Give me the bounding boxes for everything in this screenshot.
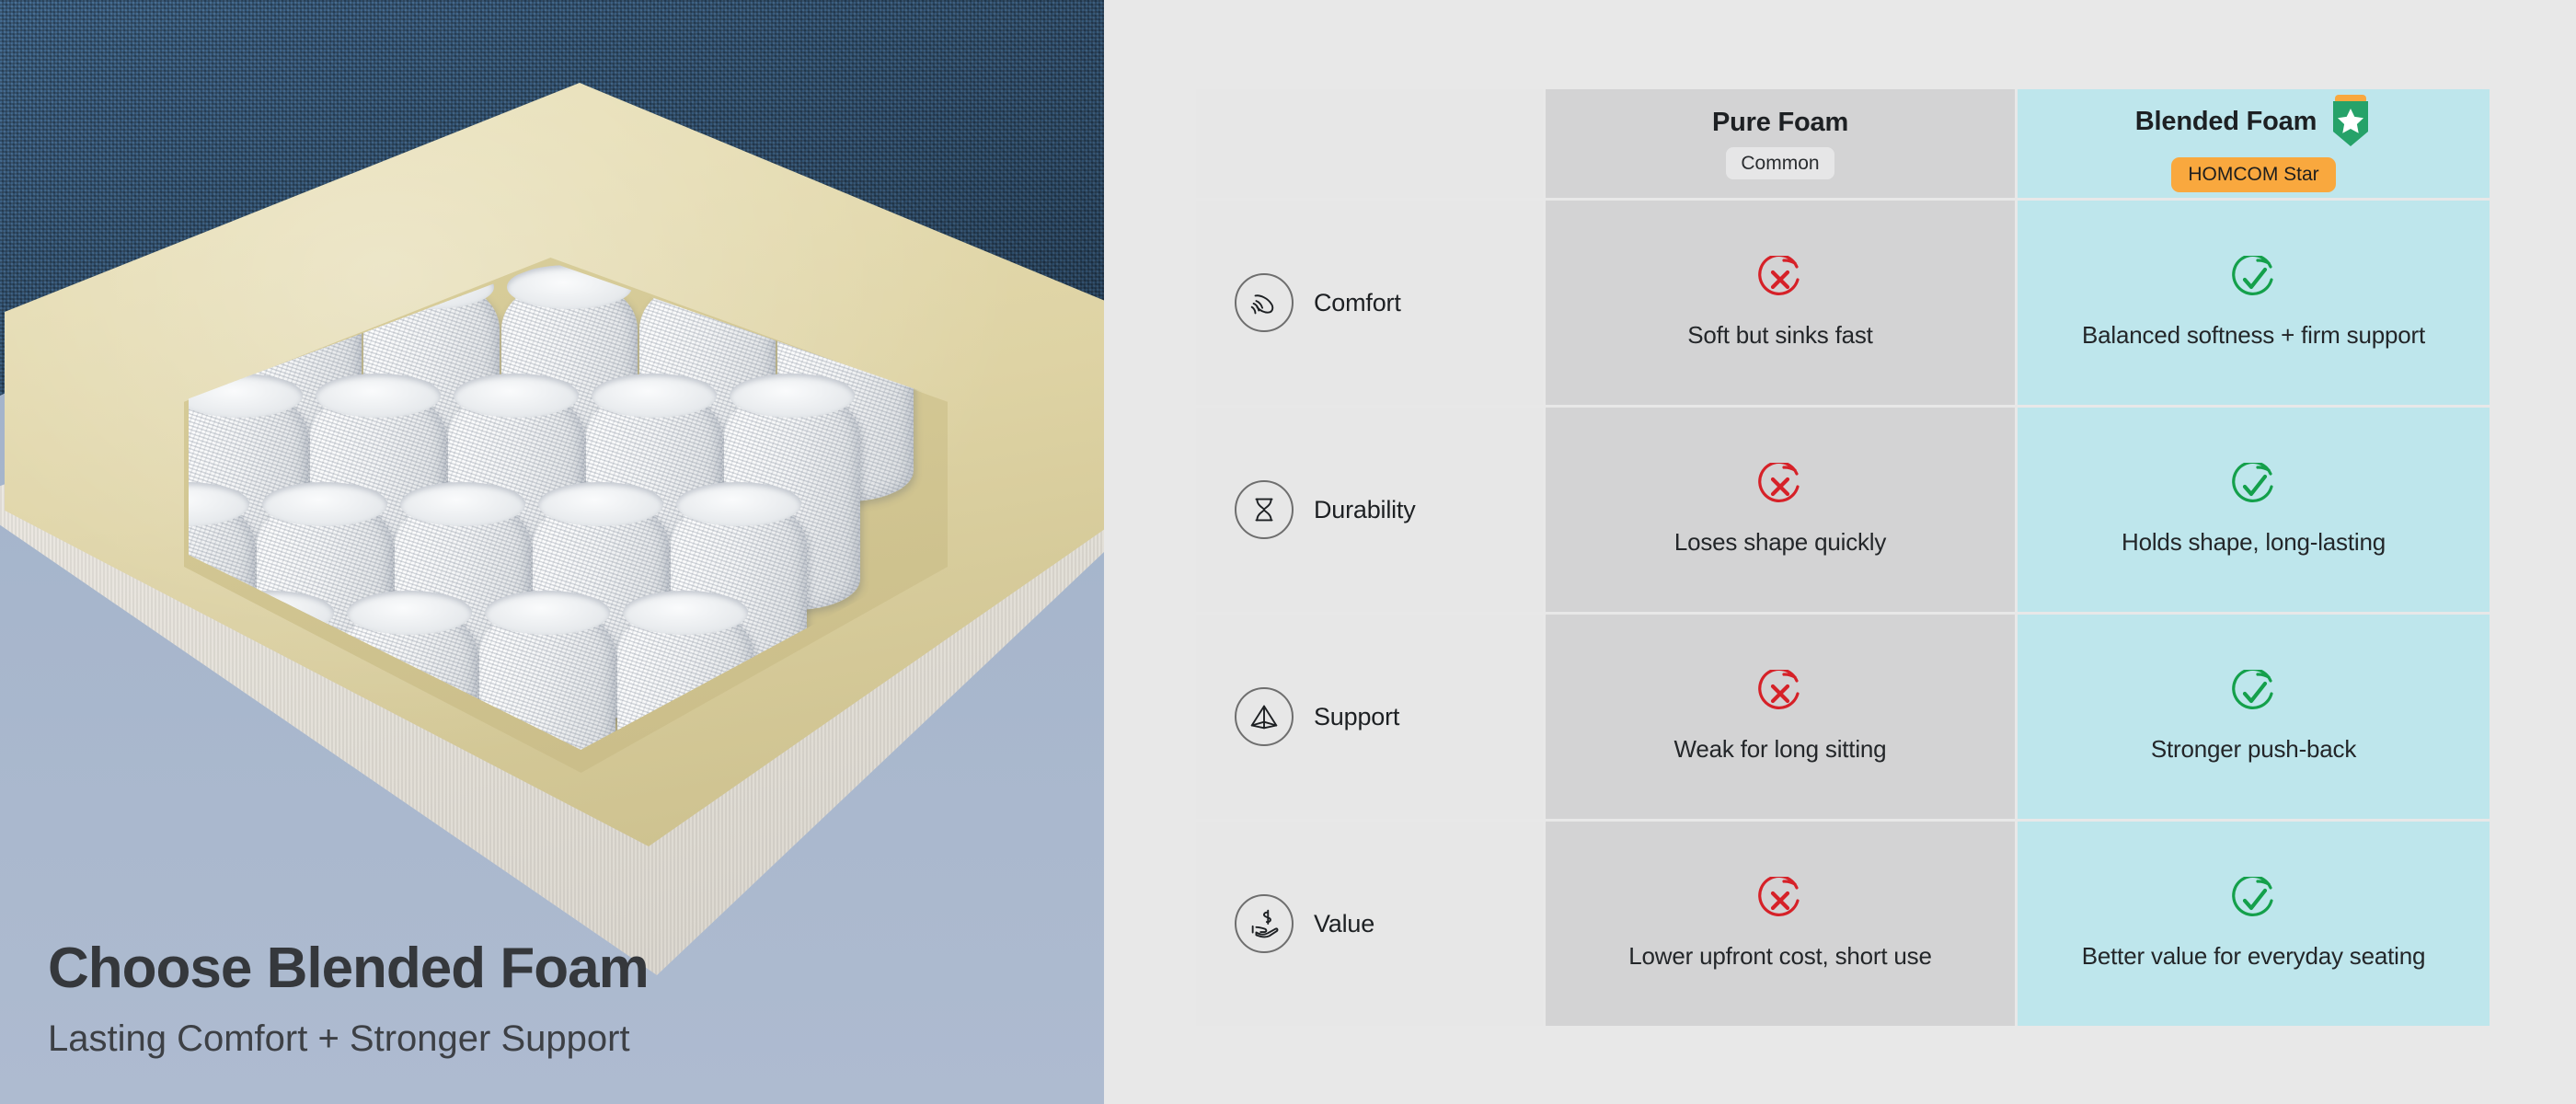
cell-text: Soft but sinks fast <box>1687 320 1872 351</box>
cross-icon <box>1756 463 1804 511</box>
row-label-comfort: Comfort <box>1196 201 1543 405</box>
page-title: Choose Blended Foam <box>48 938 649 998</box>
row-label-text: Durability <box>1314 496 1416 524</box>
cross-icon <box>1756 256 1804 304</box>
blended-foam-title: Blended Foam <box>2135 107 2317 137</box>
row-label-text: Support <box>1314 703 1399 731</box>
cell-pure-comfort: Soft but sinks fast <box>1546 201 2015 405</box>
comparison-panel: Pure Foam Common Blended Foam HOMCOM Sta… <box>1104 0 2576 1104</box>
cell-text: Better value for everyday seating <box>2082 941 2426 972</box>
cross-icon <box>1756 670 1804 718</box>
homcom-star-badge: HOMCOM Star <box>2171 157 2335 191</box>
row-label-durability: Durability <box>1196 408 1543 612</box>
pure-foam-title: Pure Foam <box>1712 108 1848 138</box>
cell-blended-support: Stronger push-back <box>2018 615 2490 819</box>
row-label-value: Value <box>1196 822 1543 1026</box>
star-shield-icon <box>2329 95 2372 148</box>
blended-foam-title-row: Blended Foam <box>2135 95 2372 148</box>
column-header-pure-foam: Pure Foam Common <box>1546 89 2015 198</box>
cell-text: Holds shape, long-lasting <box>2122 527 2386 558</box>
check-icon <box>2230 463 2278 511</box>
cell-text: Balanced softness + firm support <box>2082 320 2425 351</box>
cell-text: Lower upfront cost, short use <box>1628 941 1931 972</box>
check-icon <box>2230 670 2278 718</box>
hand-dollar-icon <box>1235 894 1294 953</box>
hand-softness-icon <box>1235 273 1294 332</box>
cell-blended-value: Better value for everyday seating <box>2018 822 2490 1026</box>
hourglass-icon <box>1235 480 1294 539</box>
cell-text: Weak for long sitting <box>1674 734 1887 765</box>
cell-pure-value: Lower upfront cost, short use <box>1546 822 2015 1026</box>
cell-pure-support: Weak for long sitting <box>1546 615 2015 819</box>
table-corner-cell <box>1196 89 1543 198</box>
hero-text-block: Choose Blended Foam Lasting Comfort + St… <box>48 938 649 1060</box>
cross-icon <box>1756 877 1804 925</box>
cell-text: Loses shape quickly <box>1674 527 1886 558</box>
hero-product-image: Choose Blended Foam Lasting Comfort + St… <box>0 0 1104 1104</box>
row-label-text: Value <box>1314 910 1374 938</box>
cell-blended-comfort: Balanced softness + firm support <box>2018 201 2490 405</box>
cell-blended-durability: Holds shape, long-lasting <box>2018 408 2490 612</box>
pure-foam-badge: Common <box>1726 147 1834 179</box>
check-icon <box>2230 256 2278 304</box>
comparison-infographic: Choose Blended Foam Lasting Comfort + St… <box>0 0 2576 1104</box>
page-subtitle: Lasting Comfort + Stronger Support <box>48 1018 649 1060</box>
comparison-table: Pure Foam Common Blended Foam HOMCOM Sta… <box>1196 89 2484 1015</box>
cell-pure-durability: Loses shape quickly <box>1546 408 2015 612</box>
check-icon <box>2230 877 2278 925</box>
row-label-text: Comfort <box>1314 289 1401 317</box>
cell-text: Stronger push-back <box>2151 734 2356 765</box>
pyramid-icon <box>1235 687 1294 746</box>
row-label-support: Support <box>1196 615 1543 819</box>
column-header-blended-foam: Blended Foam HOMCOM Star <box>2018 89 2490 198</box>
